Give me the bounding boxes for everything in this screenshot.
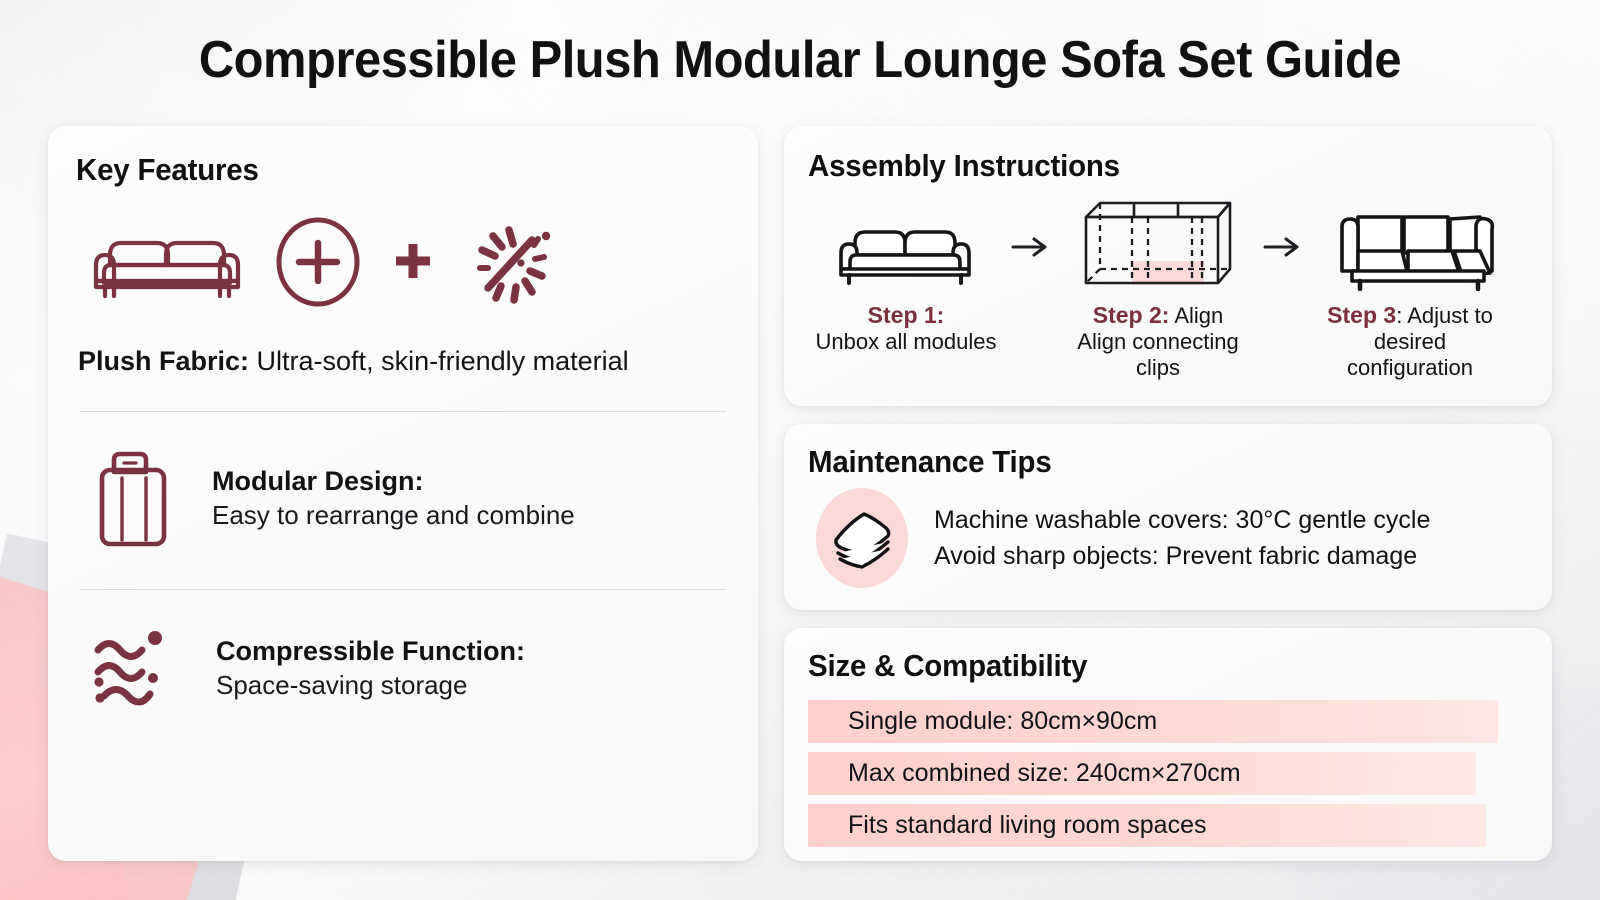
card-maintenance-tips: Maintenance Tips Machine washable covers… (784, 424, 1552, 610)
arrow-icon-2 (1256, 198, 1312, 296)
step-1-art (808, 198, 1004, 296)
maintenance-lines: Machine washable covers: 30°C gentle cyc… (934, 502, 1430, 575)
assembly-step-1: Step 1: Unbox all modules (808, 198, 1004, 355)
compression-waves-icon (90, 620, 186, 717)
card-key-features: Key Features (48, 126, 758, 861)
step-2-caption: Step 2: Align Align connecting clips (1060, 302, 1256, 381)
assembly-step-3: Step 3: Adjust to desired configuration (1312, 198, 1508, 381)
plush-fabric-value: Ultra-soft, skin-friendly material (257, 346, 629, 376)
size-title: Size & Compatibility (808, 648, 1492, 684)
maintenance-title: Maintenance Tips (808, 444, 1492, 480)
feature-row-modular-design: Modular Design: Easy to rearrange and co… (76, 442, 730, 555)
step-2-desc: Align connecting clips (1060, 329, 1256, 381)
page-title: Compressible Plush Modular Lounge Sofa S… (48, 30, 1552, 90)
plush-fabric-line: Plush Fabric: Ultra-soft, skin-friendly … (78, 346, 730, 377)
maintenance-line-2: Avoid sharp objects: Prevent fabric dama… (934, 538, 1430, 574)
card-assembly-instructions: Assembly Instructions (784, 126, 1552, 406)
step-1-desc: Unbox all modules (808, 329, 1004, 355)
modular-design-desc: Easy to rearrange and combine (212, 499, 575, 533)
step-3-art (1312, 198, 1508, 296)
step-2-art (1060, 198, 1256, 296)
modular-design-title: Modular Design: (212, 464, 575, 499)
step-3-label-row: Step 3: Adjust to (1312, 302, 1508, 329)
assembly-step-2: Step 2: Align Align connecting clips (1060, 198, 1256, 381)
key-features-title: Key Features (76, 152, 697, 188)
maintenance-line-1: Machine washable covers: 30°C gentle cyc… (934, 502, 1430, 538)
sofa-icon (88, 221, 246, 308)
sofa-two-seat-icon (831, 213, 981, 296)
plus-icon (390, 238, 436, 291)
step-2-inline: Align (1169, 303, 1223, 328)
infographic-page: Compressible Plush Modular Lounge Sofa S… (0, 0, 1600, 900)
assembly-title: Assembly Instructions (808, 148, 1492, 184)
size-row-max-combined: Max combined size: 240cm×270cm (808, 752, 1476, 795)
modular-box-icon (90, 442, 182, 555)
divider-1 (80, 411, 726, 412)
step-1-label: Step 1: (868, 302, 945, 328)
circle-plus-icon (272, 216, 364, 313)
step-2-label-row: Step 2: Align (1060, 302, 1256, 329)
folded-fabric-icon (826, 503, 898, 574)
compression-sparkle-icon (462, 214, 558, 315)
maintenance-icon-badge (816, 488, 908, 588)
size-row-fits-standard: Fits standard living room spaces (808, 804, 1486, 847)
step-1-label-row: Step 1: (808, 302, 1004, 329)
compressible-function-title: Compressible Function: (216, 634, 525, 669)
assembly-steps-row: Step 1: Unbox all modules (808, 198, 1528, 381)
feature-row-compressible-function: Compressible Function: Space-saving stor… (76, 620, 730, 717)
step-3-label: Step 3 (1327, 302, 1396, 328)
feature-text-compressible-function: Compressible Function: Space-saving stor… (216, 634, 525, 702)
feature-text-modular-design: Modular Design: Easy to rearrange and co… (212, 464, 575, 532)
size-rows: Single module: 80cm×90cm Max combined si… (808, 700, 1528, 847)
size-row-single-module: Single module: 80cm×90cm (808, 700, 1498, 743)
step-2-label: Step 2: (1093, 302, 1170, 328)
arrow-icon-1 (1004, 198, 1060, 296)
key-features-icon-row (88, 218, 730, 310)
sofa-three-seat-icon (1312, 205, 1508, 296)
step-3-inline: : Adjust to (1396, 303, 1493, 328)
plush-fabric-label: Plush Fabric: (78, 346, 249, 376)
step-1-caption: Step 1: Unbox all modules (808, 302, 1004, 355)
compressible-function-desc: Space-saving storage (216, 669, 525, 703)
wireframe-box-icon (1074, 195, 1242, 296)
divider-2 (80, 589, 726, 590)
card-size-compatibility: Size & Compatibility Single module: 80cm… (784, 628, 1552, 861)
step-3-caption: Step 3: Adjust to desired configuration (1312, 302, 1508, 381)
maintenance-row: Machine washable covers: 30°C gentle cyc… (808, 488, 1528, 588)
step-3-desc: desired configuration (1312, 329, 1508, 381)
